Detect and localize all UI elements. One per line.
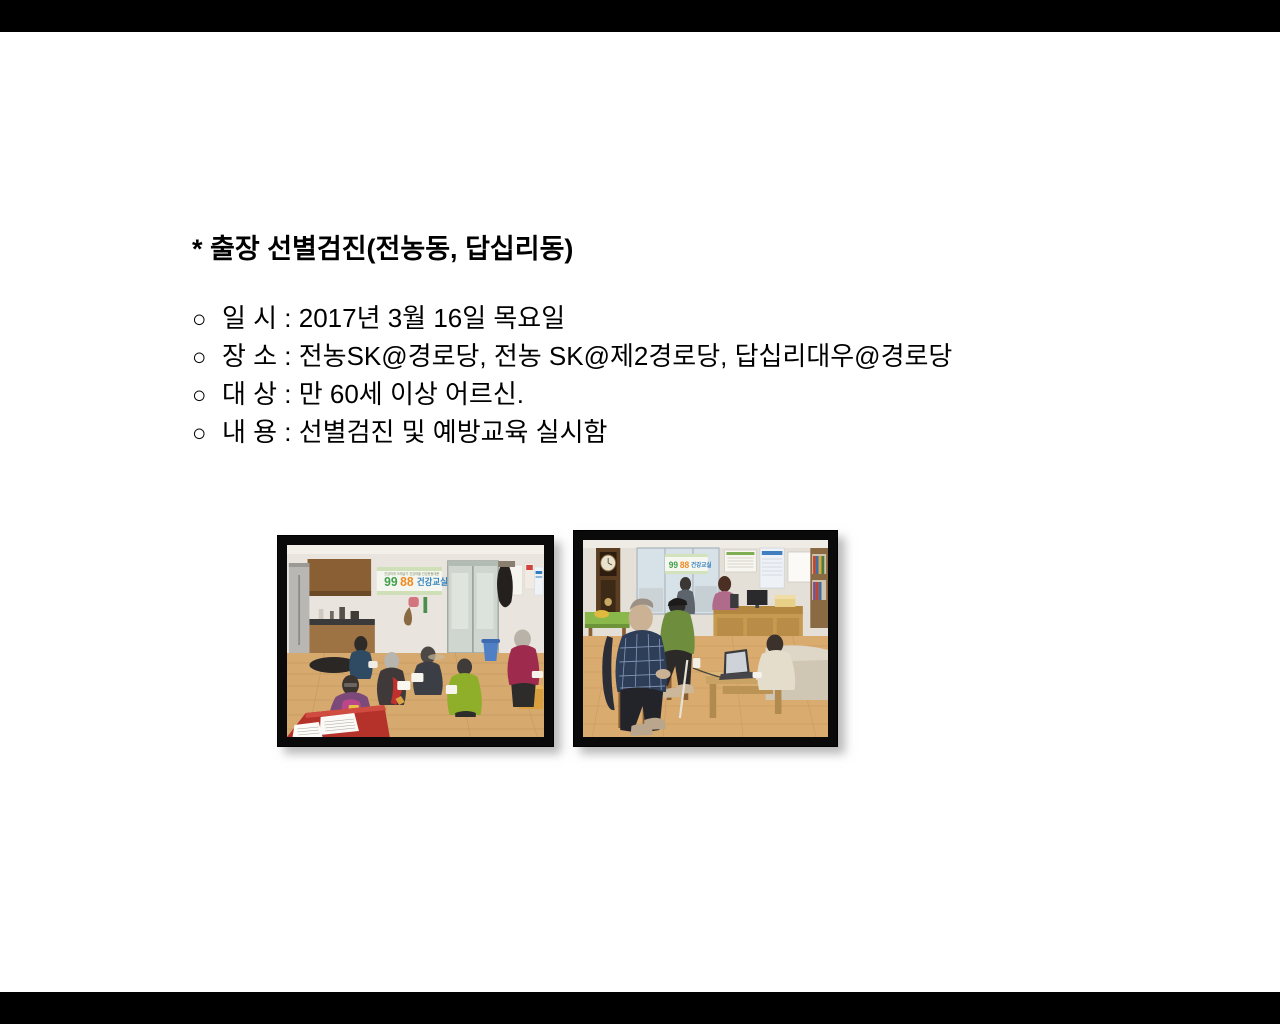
list-item-label: 일 시 : 2017년 3월 16일 목요일 <box>222 300 565 336</box>
svg-text:99: 99 <box>384 575 398 589</box>
photo-gallery: 99 88 건강교실 건강하게 오래살기 건강마을 건강한동대문 <box>0 32 1280 992</box>
photo-illustration-left: 99 88 건강교실 건강하게 오래살기 건강마을 건강한동대문 <box>287 545 544 737</box>
photo-frame-right: 99 88 건강교실 <box>573 530 838 747</box>
bullet-circle-icon: ○ <box>192 378 222 414</box>
list-item-label: 대 상 : 만 60세 이상 어르신. <box>222 376 524 412</box>
svg-text:건강교실: 건강교실 <box>691 561 712 569</box>
slide-text-block: * 출장 선별검진(전농동, 답십리동) ○ 일 시 : 2017년 3월 16… <box>192 232 1192 452</box>
photo-frame-left: 99 88 건강교실 건강하게 오래살기 건강마을 건강한동대문 <box>277 535 554 747</box>
svg-text:건강교실: 건강교실 <box>417 576 448 587</box>
slide-viewport: * 출장 선별검진(전농동, 답십리동) ○ 일 시 : 2017년 3월 16… <box>0 0 1280 1024</box>
slide-canvas: * 출장 선별검진(전농동, 답십리동) ○ 일 시 : 2017년 3월 16… <box>0 32 1280 992</box>
list-item: ○ 내 용 : 선별검진 및 예방교육 실시함 <box>192 414 1192 452</box>
list-item: ○ 일 시 : 2017년 3월 16일 목요일 <box>192 300 1192 338</box>
list-item-label: 내 용 : 선별검진 및 예방교육 실시함 <box>222 414 607 450</box>
list-item: ○ 대 상 : 만 60세 이상 어르신. <box>192 376 1192 414</box>
page-title: * 출장 선별검진(전농동, 답십리동) <box>192 232 1192 266</box>
letterbox-top-bar <box>0 0 1280 32</box>
photo-image-left: 99 88 건강교실 건강하게 오래살기 건강마을 건강한동대문 <box>287 545 544 737</box>
svg-text:88: 88 <box>680 560 689 570</box>
bullet-circle-icon: ○ <box>192 302 222 338</box>
svg-text:99: 99 <box>669 560 678 570</box>
letterbox-bottom-bar <box>0 992 1280 1024</box>
svg-text:88: 88 <box>400 575 414 589</box>
list-item: ○ 장 소 : 전농SK@경로당, 전농 SK@제2경로당, 답십리대우@경로당 <box>192 338 1192 376</box>
photo-image-right: 99 88 건강교실 <box>583 540 828 737</box>
list-item-label: 장 소 : 전농SK@경로당, 전농 SK@제2경로당, 답십리대우@경로당 <box>222 338 952 374</box>
svg-text:건강하게 오래살기 건강마을 건강한동대문: 건강하게 오래살기 건강마을 건강한동대문 <box>384 571 439 576</box>
detail-list: ○ 일 시 : 2017년 3월 16일 목요일 ○ 장 소 : 전농SK@경로… <box>192 300 1192 452</box>
bullet-circle-icon: ○ <box>192 416 222 452</box>
photo-illustration-right: 99 88 건강교실 <box>583 540 828 737</box>
bullet-circle-icon: ○ <box>192 340 222 376</box>
